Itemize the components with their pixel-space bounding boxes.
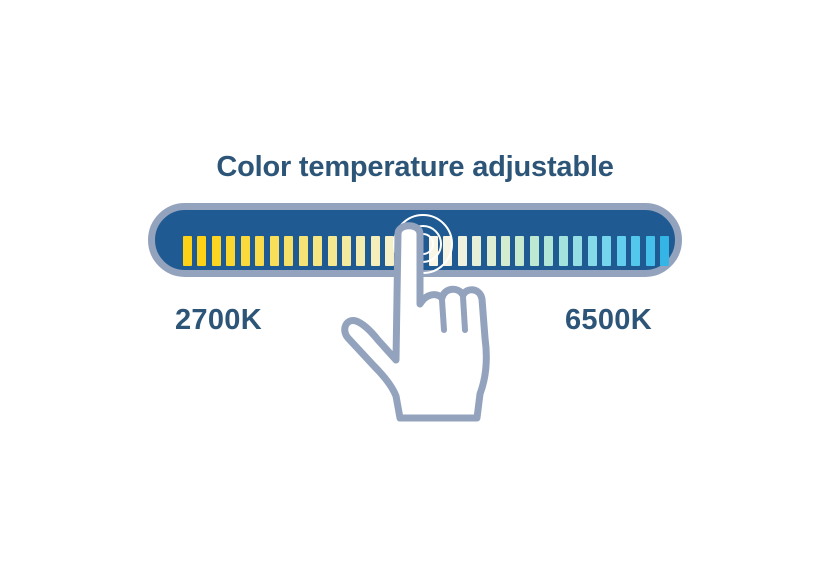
slider-tick-bar [270, 236, 279, 266]
slider-tick-bar [646, 236, 655, 266]
pointing-hand-icon [338, 218, 504, 423]
slider-tick-bar [631, 236, 640, 266]
slider-tick-bar [313, 236, 322, 266]
slider-tick-bar [559, 236, 568, 266]
slider-tick-bar [197, 236, 206, 266]
slider-tick-bar [660, 236, 669, 266]
slider-tick-bar [602, 236, 611, 266]
slider-tick-bar [617, 236, 626, 266]
slider-tick-bar [255, 236, 264, 266]
page-title: Color temperature adjustable [0, 151, 830, 184]
slider-min-label: 2700K [175, 304, 262, 337]
slider-tick-bar [328, 236, 337, 266]
slider-tick-bar [515, 236, 524, 266]
slider-tick-bar [241, 236, 250, 266]
slider-tick-bar [588, 236, 597, 266]
slider-tick-bar [226, 236, 235, 266]
slider-tick-bar [530, 236, 539, 266]
slider-tick-bar [544, 236, 553, 266]
slider-tick-bar [183, 236, 192, 266]
illustration-canvas: Color temperature adjustable 2700K 6500K [0, 0, 830, 584]
slider-tick-bar [299, 236, 308, 266]
slider-tick-bar [212, 236, 221, 266]
slider-tick-bar [284, 236, 293, 266]
slider-tick-bar [573, 236, 582, 266]
slider-max-label: 6500K [565, 304, 652, 337]
